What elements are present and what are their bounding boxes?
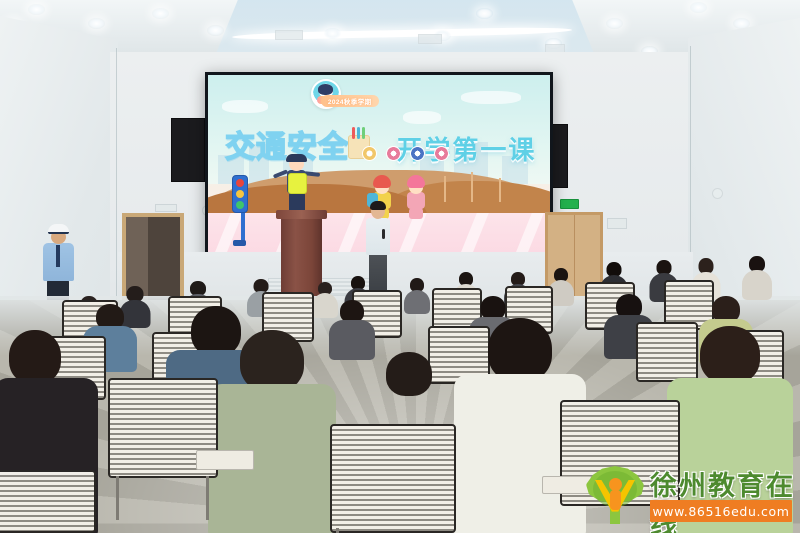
microphone-icon <box>382 229 385 239</box>
zebra-stripe <box>213 213 243 257</box>
site-watermark: 徐州教育在线 www.86516edu.com <box>584 460 796 530</box>
wall-sign-plate <box>607 218 627 229</box>
auditorium-chair-foreground[interactable] <box>0 470 96 533</box>
girl-torso <box>407 192 425 209</box>
head <box>700 326 760 384</box>
green-tree-person-logo-icon <box>586 466 644 524</box>
zebra-stripe <box>336 213 366 257</box>
bare-tree <box>444 176 446 202</box>
officer-cap <box>286 154 307 162</box>
body <box>404 290 430 314</box>
chair-back <box>0 470 96 533</box>
traffic-police-emblem-icon <box>410 146 425 161</box>
speaker-panel-left <box>171 118 205 182</box>
audience-member <box>404 278 430 314</box>
head <box>488 318 552 382</box>
head <box>386 352 432 396</box>
bare-tree <box>499 178 501 202</box>
ceiling-vent <box>275 30 303 40</box>
watermark-url-text: www.86516edu.com <box>652 504 789 519</box>
downlight-icon <box>690 2 707 13</box>
wall-knob <box>712 188 723 199</box>
chair-back <box>330 424 456 533</box>
traffic-light-icon <box>232 175 248 213</box>
officer-tie <box>56 245 60 267</box>
presenter-hair <box>370 201 386 210</box>
podium-top <box>276 210 327 219</box>
slide-term-badge: 2024秋季学期 <box>321 95 379 107</box>
downlight-icon <box>324 28 341 39</box>
downlight-icon <box>207 25 224 36</box>
chair-writing-tablet <box>196 450 254 470</box>
school-emblem-icon <box>434 146 449 161</box>
girl-hair <box>407 175 425 188</box>
chair-leg <box>336 528 339 533</box>
zebra-stripe <box>514 213 544 257</box>
chair-leg <box>206 476 209 520</box>
slide-term-badge-label: 2024秋季学期 <box>328 96 372 106</box>
downlight-icon <box>88 18 105 29</box>
watermark-site-name: 徐州教育在线 <box>650 464 796 533</box>
presenter-shirt <box>366 218 390 255</box>
zebra-stripe <box>459 213 489 257</box>
audience-member <box>330 300 374 358</box>
officer-hivis-vest <box>288 173 307 194</box>
police-badge-emblem-icon <box>386 146 401 161</box>
audience-member-foreground <box>212 330 332 533</box>
auditorium-chair-foreground[interactable] <box>108 378 218 478</box>
traffic-light-base <box>233 240 246 246</box>
logo-person-body <box>610 490 621 510</box>
wall-control-plate <box>155 204 177 212</box>
exit-sign-icon <box>560 199 579 209</box>
screenshot-root: 2024秋季学期 交通安全 开学第一课 <box>0 0 800 533</box>
downlight-icon <box>152 8 169 19</box>
cloud-shape <box>222 100 268 113</box>
logo-person-head <box>609 478 622 491</box>
auditorium-chair-foreground[interactable] <box>330 424 456 533</box>
officer-peaked-cap <box>48 224 69 234</box>
moon-emblem-icon <box>362 146 377 161</box>
downlight-icon <box>733 18 750 29</box>
watermark-url-bar: www.86516edu.com <box>650 500 792 522</box>
girl-legs <box>409 208 423 219</box>
downlight-icon <box>606 18 623 29</box>
doorway-dark-interior <box>148 217 180 304</box>
audience-member <box>742 256 772 300</box>
cartoon-traffic-officer <box>280 155 314 217</box>
downlight-icon <box>476 8 493 19</box>
head <box>240 330 304 392</box>
boy-hair <box>373 175 391 188</box>
lecture-hall-room: 2024秋季学期 交通安全 开学第一课 <box>0 0 800 533</box>
chair-leg <box>116 476 119 520</box>
cloud-shape <box>403 111 441 124</box>
ceiling-vent <box>418 34 442 44</box>
head <box>9 330 61 384</box>
cloud-shape <box>461 91 521 104</box>
downlight-icon <box>28 4 45 15</box>
traffic-light-pole <box>241 208 245 242</box>
bare-tree <box>471 172 473 202</box>
zebra-stripe <box>398 213 428 257</box>
cartoon-girl-student <box>403 175 429 219</box>
